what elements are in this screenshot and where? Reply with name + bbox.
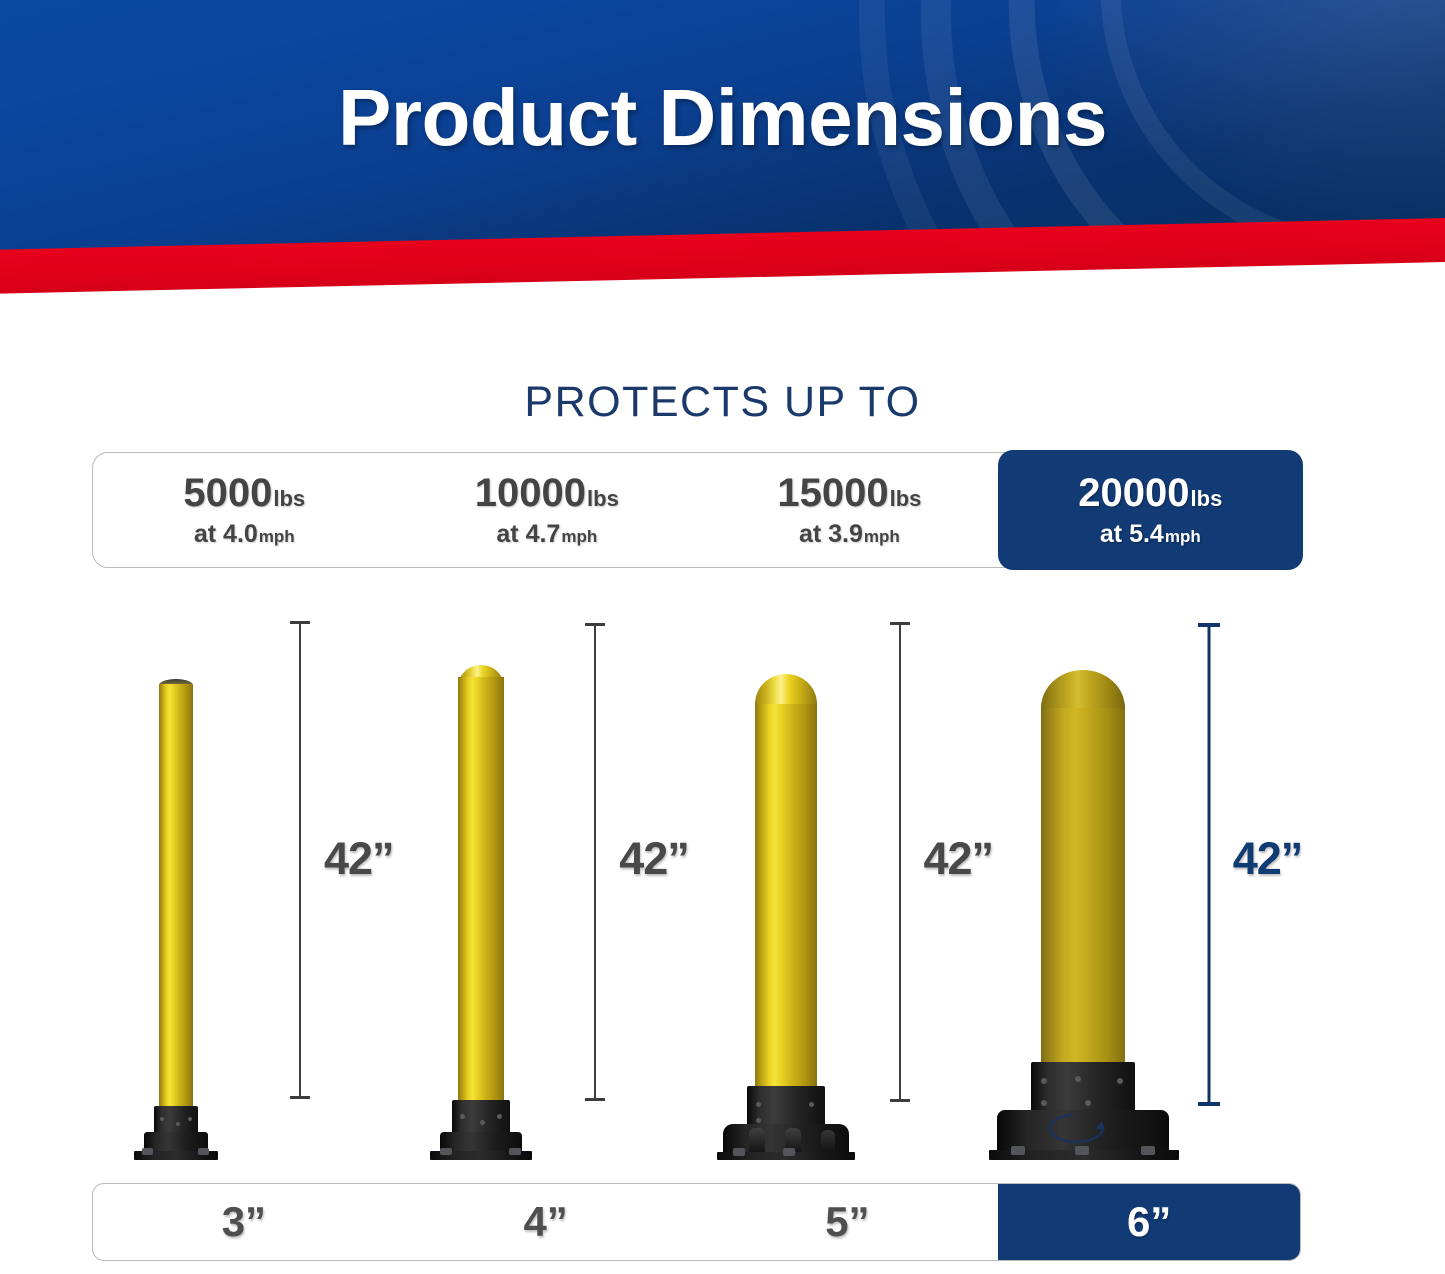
dimension-tick-bottom	[585, 1098, 605, 1101]
dimension-line-stem	[1207, 623, 1210, 1106]
spec-weight-unit: lbs	[587, 488, 619, 510]
size-cell-4in[interactable]: 4”	[395, 1184, 697, 1260]
bollard-graphic-6in	[989, 630, 1209, 1160]
spec-speed-unit: mph	[864, 528, 900, 545]
spec-weight-value: 5000	[183, 473, 272, 513]
page-title: Product Dimensions	[0, 72, 1445, 164]
dimension-line-stem	[299, 621, 301, 1099]
bollard-tube	[1041, 708, 1125, 1067]
dimension-line-6in	[1197, 623, 1221, 1106]
bolt-screw-icon	[1085, 1100, 1091, 1106]
dimension-tick-top	[585, 623, 605, 626]
spec-weight-value: 15000	[777, 473, 888, 513]
spec-weight: 5000lbs	[183, 473, 305, 513]
bollard-tube	[755, 704, 817, 1099]
bollard-graphic-3in	[118, 660, 248, 1160]
spec-speed-value: at 4.0	[194, 522, 258, 547]
spec-weight: 15000lbs	[777, 473, 921, 513]
spec-speed-unit: mph	[259, 528, 295, 545]
spec-speed: at 4.0mph	[194, 522, 295, 547]
bolt-screw-icon	[460, 1114, 465, 1119]
bollard-dome-cap-icon	[1041, 670, 1125, 708]
anchor-bolt-icon	[1075, 1146, 1089, 1155]
anchor-bolt-icon	[1011, 1146, 1025, 1155]
bolt-screw-icon	[756, 1102, 761, 1107]
diameter-size-row: 3” 4” 5” 6”	[92, 1183, 1301, 1261]
spec-speed-unit: mph	[1165, 528, 1201, 545]
dimension-line-stem	[899, 622, 901, 1102]
spec-speed-unit: mph	[561, 528, 597, 545]
bolt-screw-icon	[480, 1120, 485, 1125]
spec-speed-value: at 5.4	[1100, 522, 1164, 547]
bolt-screw-icon	[809, 1102, 814, 1107]
spec-cell-15000[interactable]: 15000lbs at 3.9mph	[698, 453, 1001, 567]
spec-speed-value: at 3.9	[799, 522, 863, 547]
dimension-line-5in	[889, 622, 911, 1102]
spec-weight-unit: lbs	[273, 488, 305, 510]
dimension-line-stem	[594, 623, 596, 1101]
anchor-bolt-icon	[509, 1148, 521, 1155]
dimension-line-4in	[584, 623, 606, 1101]
spec-cell-10000[interactable]: 10000lbs at 4.7mph	[396, 453, 699, 567]
bollard-graphic-4in	[414, 650, 564, 1160]
dimension-tick-top	[290, 621, 310, 624]
product-column-5in: 42”	[697, 600, 999, 1160]
product-column-3in: 42”	[92, 600, 394, 1160]
bolt-screw-icon	[176, 1122, 180, 1126]
height-label-4in: 42”	[619, 833, 689, 885]
bolt-screw-icon	[1117, 1078, 1123, 1084]
spec-weight-value: 20000	[1078, 473, 1189, 513]
bolt-screw-icon	[756, 1118, 761, 1123]
bollard-tube	[159, 684, 193, 1120]
size-cell-3in[interactable]: 3”	[93, 1184, 395, 1260]
product-illustration-row: 42” 42”	[92, 600, 1301, 1160]
spec-weight-unit: lbs	[890, 488, 922, 510]
bollard-collar	[154, 1106, 198, 1134]
bolt-screw-icon	[160, 1117, 164, 1121]
protects-heading: PROTECTS UP TO	[0, 378, 1445, 427]
dimension-tick-top	[890, 622, 910, 625]
dimension-tick-bottom	[1198, 1102, 1220, 1106]
spec-weight-value: 10000	[475, 473, 586, 513]
anchor-bolt-icon	[783, 1148, 795, 1156]
anchor-bolt-icon	[1141, 1146, 1155, 1155]
anchor-bolt-icon	[198, 1148, 209, 1155]
product-column-6in: 42”	[999, 600, 1301, 1160]
height-label-6in: 42”	[1233, 833, 1303, 885]
anchor-bolt-icon	[733, 1148, 745, 1156]
header-banner: Product Dimensions	[0, 0, 1445, 300]
anchor-bolt-icon	[440, 1148, 452, 1155]
bollard-graphic-5in	[707, 645, 887, 1160]
size-cell-6in[interactable]: 6”	[998, 1184, 1300, 1260]
spec-speed: at 4.7mph	[496, 522, 597, 547]
bollard-baseplate	[430, 1151, 532, 1160]
bolt-screw-icon	[1041, 1078, 1047, 1084]
spec-speed: at 5.4mph	[1100, 522, 1201, 547]
bollard-dome-cap-icon	[755, 674, 817, 704]
spec-speed: at 3.9mph	[799, 522, 900, 547]
dimension-tick-bottom	[890, 1099, 910, 1102]
rotation-arrow-icon	[1045, 1112, 1115, 1146]
height-label-5in: 42”	[924, 833, 994, 885]
dimension-tick-bottom	[290, 1096, 310, 1099]
skirt-rib	[821, 1130, 835, 1152]
spec-weight: 20000lbs	[1078, 473, 1222, 513]
spec-cell-20000[interactable]: 20000lbs at 5.4mph	[999, 451, 1302, 568]
bolt-screw-icon	[497, 1114, 502, 1119]
bolt-screw-icon	[1075, 1076, 1081, 1082]
anchor-bolt-icon	[142, 1148, 153, 1155]
bollard-tube	[458, 677, 504, 1114]
skirt-rib	[749, 1128, 765, 1152]
product-column-4in: 42”	[394, 600, 696, 1160]
bolt-screw-icon	[1041, 1100, 1047, 1106]
spec-speed-value: at 4.7	[496, 522, 560, 547]
dimension-line-3in	[289, 621, 311, 1099]
protects-spec-row: 5000lbs at 4.0mph 10000lbs at 4.7mph 150…	[92, 452, 1301, 568]
spec-weight-unit: lbs	[1191, 488, 1223, 510]
spec-weight: 10000lbs	[475, 473, 619, 513]
bollard-baseplate	[134, 1151, 218, 1160]
bollard-baseplate	[717, 1152, 855, 1160]
bollard-baseplate	[989, 1150, 1179, 1160]
size-cell-5in[interactable]: 5”	[697, 1184, 999, 1260]
bollard-collar	[452, 1100, 510, 1134]
height-label-3in: 42”	[324, 833, 394, 885]
spec-cell-5000[interactable]: 5000lbs at 4.0mph	[93, 453, 396, 567]
bolt-screw-icon	[188, 1117, 192, 1121]
dimension-tick-top	[1198, 623, 1220, 627]
